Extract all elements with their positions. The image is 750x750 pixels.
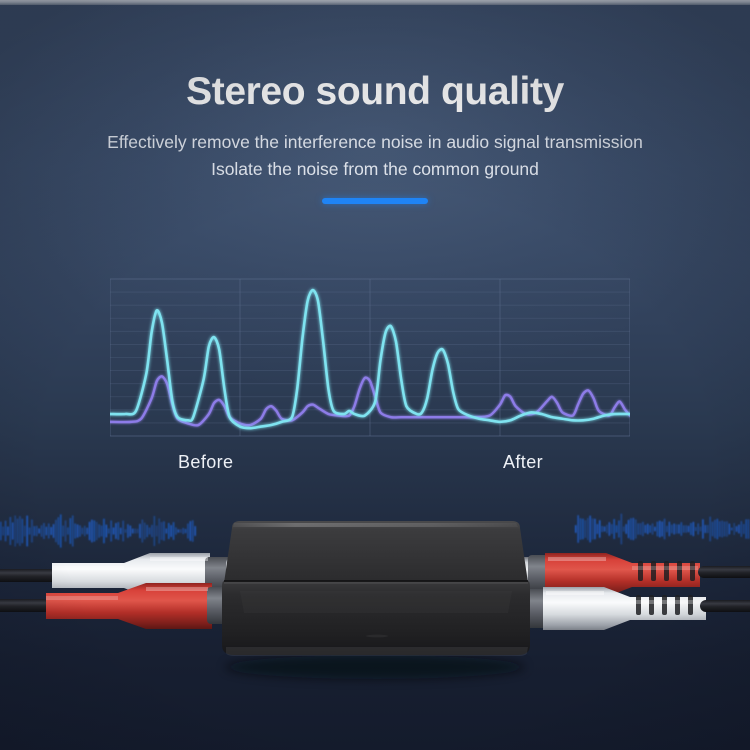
- chart-label-before: Before: [178, 452, 233, 473]
- page-title: Stereo sound quality: [0, 0, 750, 113]
- chart-canvas: [110, 275, 630, 442]
- connector-left-lower-red: [0, 583, 258, 629]
- promo-banner: Stereo sound quality Effectively remove …: [0, 0, 750, 750]
- waveform-comparison-chart: [110, 275, 630, 442]
- audio-spectrum-right: [575, 514, 749, 545]
- hardware-canvas: [0, 495, 750, 695]
- accent-underline: [322, 198, 428, 204]
- header: Stereo sound quality Effectively remove …: [0, 0, 750, 204]
- subtitle-line-1: Effectively remove the interference nois…: [0, 113, 750, 155]
- device-isolator-body: [222, 521, 530, 679]
- audio-spectrum-left: [0, 514, 196, 547]
- connector-right-lower-white: [498, 587, 750, 630]
- chart-label-after: After: [503, 452, 543, 473]
- product-hardware-scene: [0, 495, 750, 695]
- subtitle-line-2: Isolate the noise from the common ground: [0, 155, 750, 182]
